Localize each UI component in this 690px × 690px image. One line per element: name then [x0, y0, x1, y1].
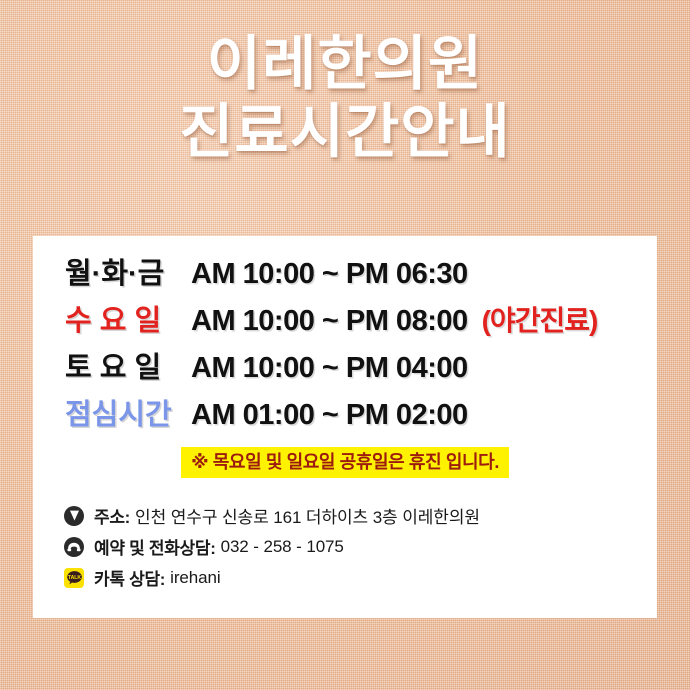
kakaotalk-icon: TALK [63, 567, 85, 589]
kakaotalk-label: 카톡 상담: [94, 565, 165, 590]
holiday-notice-banner: ※ 목요일 및 일요일 공휴일은 휴진 입니다. [181, 447, 509, 478]
address-label: 주소: [94, 503, 130, 528]
svg-text:TALK: TALK [67, 574, 81, 580]
phone-icon [63, 536, 85, 558]
clinic-hours-poster: 이레한의원 진료시간안내 월·화·금 AM 10:00 ~ PM 06:30 수… [0, 0, 690, 690]
schedule-time: AM 10:00 ~ PM 08:00 [191, 305, 468, 338]
poster-subtitle: 진료시간안내 [0, 98, 690, 166]
schedule-row: 수 요 일 AM 10:00 ~ PM 08:00 (야간진료) [65, 297, 657, 344]
address-value: 인천 연수구 신송로 161 더하이츠 3층 이레한의원 [135, 503, 480, 528]
schedule-row: 토 요 일 AM 10:00 ~ PM 04:00 [65, 344, 657, 391]
info-card: 월·화·금 AM 10:00 ~ PM 06:30 수 요 일 AM 10:00… [33, 236, 657, 618]
contact-row-kakaotalk: TALK 카톡 상담: irehani [63, 562, 643, 593]
notice-wrapper: ※ 목요일 및 일요일 공휴일은 휴진 입니다. [33, 447, 657, 478]
kakaotalk-value: irehani [170, 568, 220, 588]
schedule-row: 월·화·금 AM 10:00 ~ PM 06:30 [65, 250, 657, 297]
clinic-name: 이레한의원 [0, 30, 690, 98]
contact-list: 주소: 인천 연수구 신송로 161 더하이츠 3층 이레한의원 예약 및 전화… [63, 500, 643, 593]
schedule-day-label: 월·화·금 [65, 250, 191, 292]
schedule-row: 점심시간 AM 01:00 ~ PM 02:00 [65, 391, 657, 438]
phone-value: 032 - 258 - 1075 [221, 537, 344, 557]
contact-row-address: 주소: 인천 연수구 신송로 161 더하이츠 3층 이레한의원 [63, 500, 643, 531]
phone-label: 예약 및 전화상담: [94, 534, 216, 559]
poster-title: 이레한의원 진료시간안내 [0, 30, 690, 166]
schedule-day-label: 토 요 일 [65, 344, 191, 386]
schedule-time: AM 01:00 ~ PM 02:00 [191, 399, 468, 432]
schedule-time: AM 10:00 ~ PM 04:00 [191, 352, 468, 385]
schedule-tag: (야간진료) [482, 299, 598, 339]
schedule-time: AM 10:00 ~ PM 06:30 [191, 258, 468, 291]
map-pin-icon [63, 505, 85, 527]
schedule-day-label: 수 요 일 [65, 297, 191, 339]
schedule-table: 월·화·금 AM 10:00 ~ PM 06:30 수 요 일 AM 10:00… [65, 250, 657, 438]
contact-row-phone: 예약 및 전화상담: 032 - 258 - 1075 [63, 531, 643, 562]
schedule-day-label: 점심시간 [65, 391, 191, 433]
